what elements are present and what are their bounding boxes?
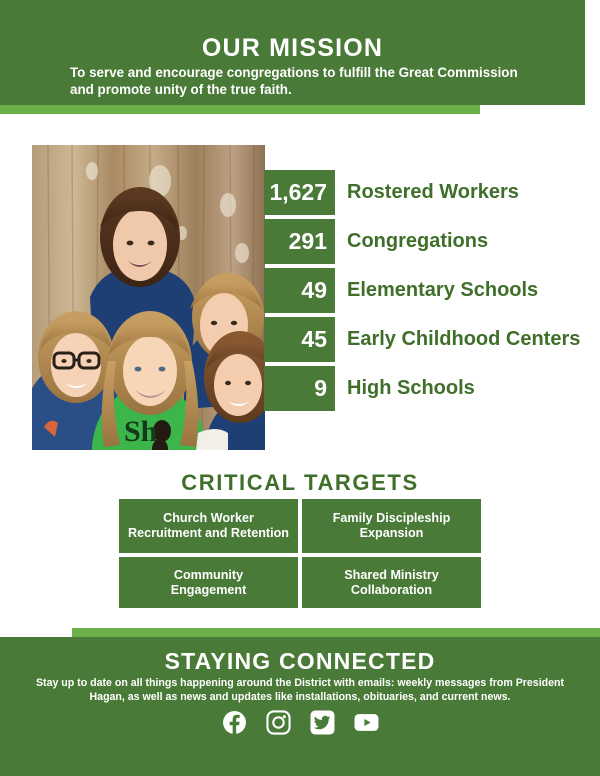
twitter-icon[interactable] [310, 710, 335, 735]
youtube-icon[interactable] [354, 710, 379, 735]
stat-number: 45 [264, 317, 335, 362]
stat-number: 1,627 [264, 170, 335, 215]
stat-label: High Schools [335, 377, 475, 400]
group-photo: Sh [32, 145, 265, 450]
staying-connected-title: STAYING CONNECTED [0, 648, 600, 675]
instagram-icon[interactable] [266, 710, 291, 735]
stat-number: 9 [264, 366, 335, 411]
stat-row: 45 Early Childhood Centers [264, 317, 594, 362]
stat-row: 291 Congregations [264, 219, 594, 264]
critical-targets-grid: Church Worker Recruitment and Retention … [119, 499, 481, 608]
stat-label: Rostered Workers [335, 181, 519, 204]
target-box: Family Discipleship Expansion [302, 499, 481, 553]
stat-number: 49 [264, 268, 335, 313]
target-box: Shared Ministry Collaboration [302, 557, 481, 608]
accent-bar-top [0, 105, 480, 114]
mission-title: OUR MISSION [0, 34, 585, 63]
stat-label: Elementary Schools [335, 279, 538, 302]
stat-label: Congregations [335, 230, 488, 253]
social-links [0, 710, 600, 735]
staying-connected-text: Stay up to date on all things happening … [30, 676, 570, 704]
target-box: Community Engagement [119, 557, 298, 608]
stat-label: Early Childhood Centers [335, 328, 580, 351]
stat-number: 291 [264, 219, 335, 264]
accent-bar-bottom [72, 628, 600, 637]
mission-statement: To serve and encourage congregations to … [70, 64, 540, 98]
svg-text:Sh: Sh [124, 415, 158, 448]
critical-targets-title: CRITICAL TARGETS [0, 470, 600, 496]
stat-row: 49 Elementary Schools [264, 268, 594, 313]
statistics-list: 1,627 Rostered Workers 291 Congregations… [264, 170, 594, 415]
stat-row: 1,627 Rostered Workers [264, 170, 594, 215]
target-box: Church Worker Recruitment and Retention [119, 499, 298, 553]
facebook-icon[interactable] [222, 710, 247, 735]
stat-row: 9 High Schools [264, 366, 594, 411]
